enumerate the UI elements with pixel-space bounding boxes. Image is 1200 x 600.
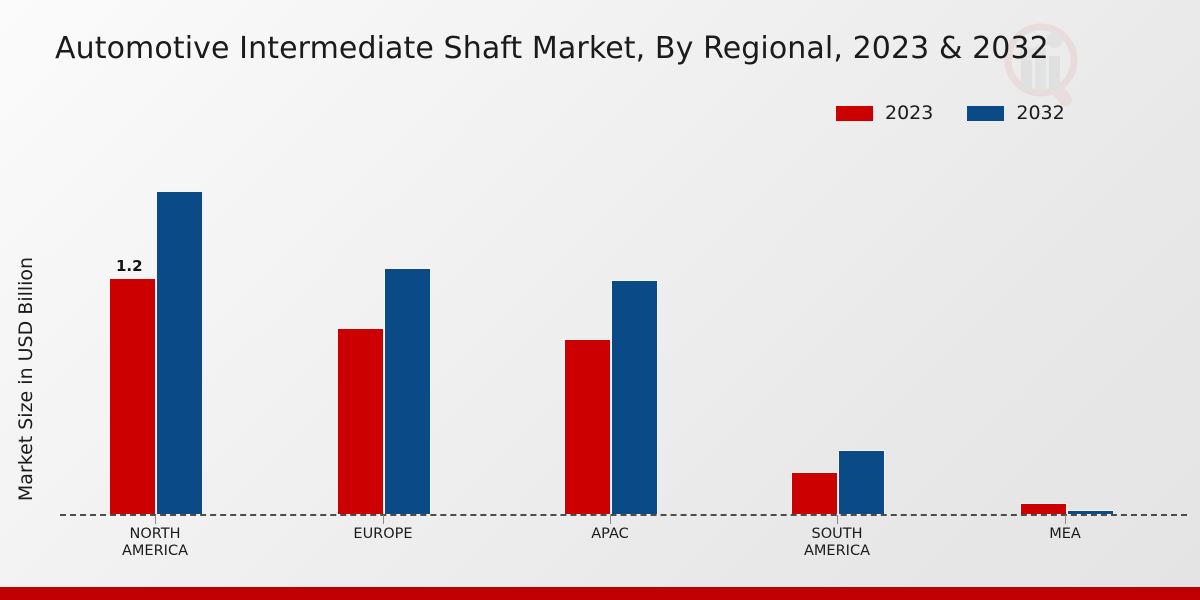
x-axis-tick xyxy=(383,515,384,524)
bar-group xyxy=(564,150,658,515)
y-axis-title: Market Size in USD Billion xyxy=(15,214,37,544)
chart-legend: 2023 2032 xyxy=(836,104,1065,123)
x-axis-label-north-america: NORTHAMERICA xyxy=(65,526,245,560)
x-axis-tick xyxy=(1065,515,1066,524)
page-title: Automotive Intermediate Shaft Market, By… xyxy=(55,31,1049,66)
bar-2032-apac[interactable] xyxy=(611,280,658,515)
x-axis-label-europe: EUROPE xyxy=(293,526,473,543)
legend-swatch-2023 xyxy=(836,106,873,121)
chart-canvas: Automotive Intermediate Shaft Market, By… xyxy=(0,0,1200,600)
legend-item-2032[interactable]: 2032 xyxy=(967,104,1064,123)
legend-item-2023[interactable]: 2023 xyxy=(836,104,933,123)
x-axis-label-mea: MEA xyxy=(975,526,1155,543)
x-axis-tick xyxy=(155,515,156,524)
plot-area: 1.2 xyxy=(60,150,1185,515)
bar-group xyxy=(337,150,431,515)
legend-label-2023: 2023 xyxy=(885,104,933,123)
bar-group xyxy=(791,150,885,515)
bar-2023-apac[interactable] xyxy=(564,339,611,515)
footer-accent-strip xyxy=(0,587,1200,600)
legend-label-2032: 2032 xyxy=(1016,104,1064,123)
bar-2032-south-america[interactable] xyxy=(838,450,885,515)
x-axis-label-apac: APAC xyxy=(520,526,700,543)
bar-2023-north-america[interactable] xyxy=(109,278,156,515)
bar-2032-europe[interactable] xyxy=(384,268,431,515)
bar-group xyxy=(1020,150,1114,515)
x-axis-label-south-america: SOUTHAMERICA xyxy=(747,526,927,560)
x-axis-baseline xyxy=(60,514,1187,516)
bar-2023-south-america[interactable] xyxy=(791,472,838,515)
bar-2023-europe[interactable] xyxy=(337,328,384,515)
x-axis-tick xyxy=(837,515,838,524)
bar-value-label: 1.2 xyxy=(116,257,143,275)
bar-2032-north-america[interactable] xyxy=(156,191,203,515)
legend-swatch-2032 xyxy=(967,106,1004,121)
bar-group: 1.2 xyxy=(109,150,203,515)
x-axis-tick xyxy=(610,515,611,524)
